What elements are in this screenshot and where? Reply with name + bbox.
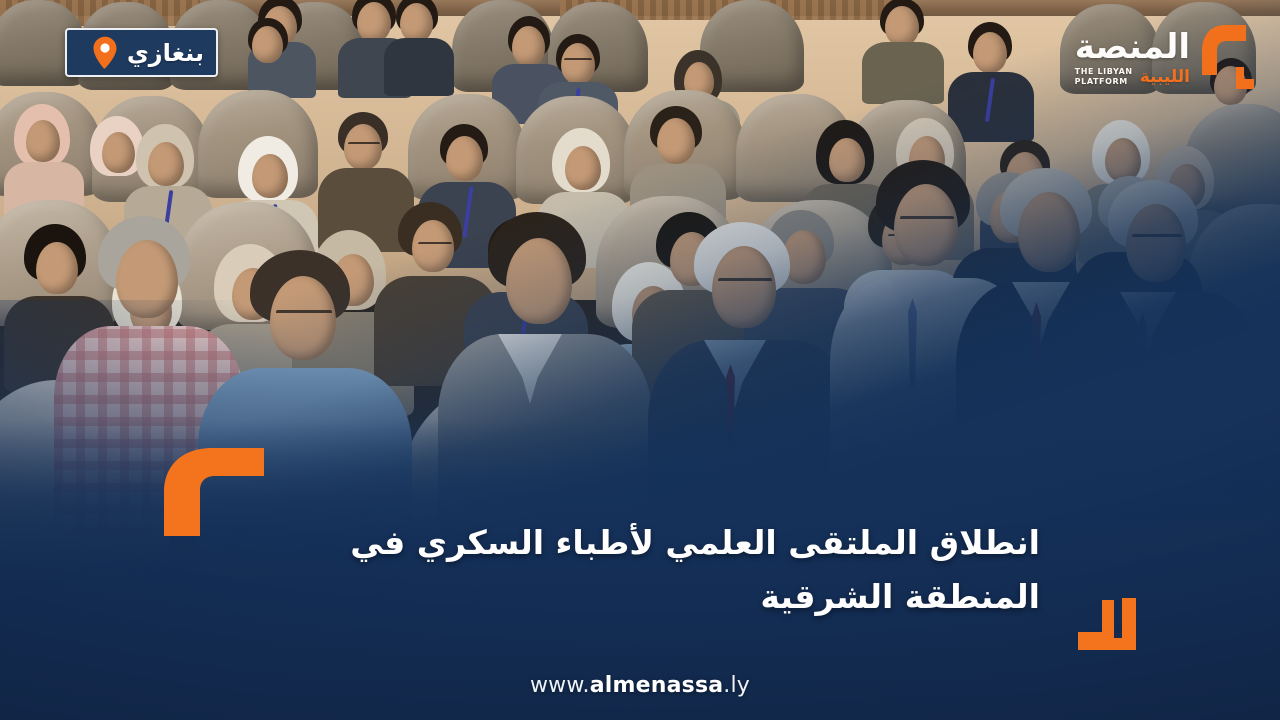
footer-url-tld: .ly [723, 673, 750, 698]
brand-logo-sub: الليبية [1140, 69, 1190, 86]
brand-logo-mark-icon [1196, 23, 1258, 93]
headline: انطلاق الملتقى العلمي لأطباء السكري في ا… [240, 516, 1040, 623]
location-badge[interactable]: بنغازي [65, 28, 218, 77]
brand-logo-text: المنصة THE LIBYAN PLATFORM الليبية [1075, 30, 1190, 85]
brand-logo-subrow: THE LIBYAN PLATFORM الليبية [1075, 67, 1190, 85]
footer-url-name: almenassa [590, 673, 724, 698]
brand-logo[interactable]: المنصة THE LIBYAN PLATFORM الليبية [1042, 20, 1258, 96]
brand-logo-english-line2: PLATFORM [1075, 77, 1128, 86]
footer-url[interactable]: www.almenassa.ly [0, 673, 1280, 698]
brand-logo-main: المنصة [1075, 30, 1190, 64]
map-pin-icon [92, 36, 118, 70]
orange-corner-bracket-small-icon [1078, 598, 1136, 650]
brand-logo-english-line1: THE LIBYAN [1075, 67, 1133, 76]
brand-logo-english: THE LIBYAN PLATFORM [1075, 67, 1133, 85]
news-card: بنغازي المنصة THE LIBYAN PLATFORM الليبي… [0, 0, 1280, 720]
location-badge-label: بنغازي [127, 41, 204, 65]
footer-url-prefix: www. [530, 673, 590, 698]
